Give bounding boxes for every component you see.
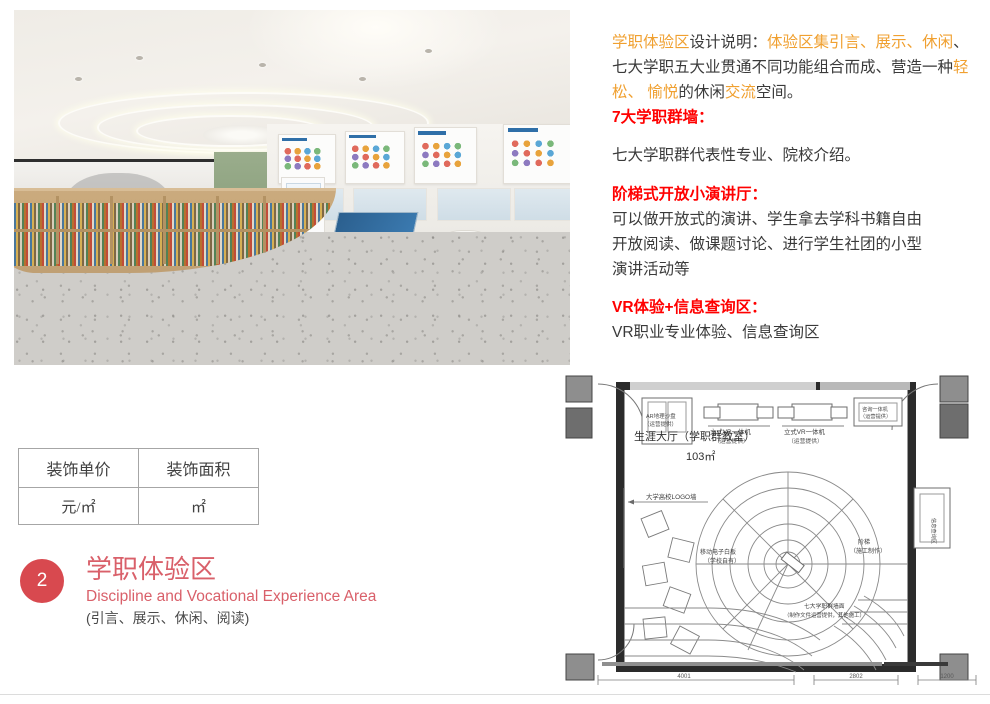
floor-plan: AR地理沙盘 （运营提供） 立式VR一体机 （运营提供） 立式VR一体机 （运营…	[558, 368, 990, 690]
poster-title-bar	[508, 128, 539, 132]
plan-label-seven-wall-sub: （制作文件运营提供，其他施工）	[784, 611, 865, 619]
desc-highlight: 体验区集	[767, 34, 829, 51]
table-cell: ㎡	[139, 488, 259, 525]
plan-label-ar-sandbox: AR地理沙盘	[646, 412, 676, 420]
poster-title-bar	[282, 138, 308, 141]
plan-label-stairs: 阶梯	[858, 538, 870, 546]
plan-label-ar-sandbox-sub: （运营提供）	[644, 420, 677, 428]
floor-plan-drawing: AR地理沙盘 （运营提供） 立式VR一体机 （运营提供） 立式VR一体机 （运营…	[558, 368, 990, 690]
slide-root: 学职体验区设计说明：体验区集引言、展示、休闲、七大学职五大业贯通不同功能组合而成…	[0, 0, 990, 704]
section-text: 学职体验区 Discipline and Vocational Experien…	[86, 555, 376, 628]
desc-body-lecture-hall-line3: 演讲活动等	[612, 257, 980, 282]
section-subtitle-cn: (引言、展示、休闲、阅读)	[86, 609, 376, 628]
poster-graphic	[349, 143, 400, 175]
infographic-poster	[345, 131, 405, 184]
plan-label-vr-2-sub: （运营提供）	[788, 437, 823, 445]
plan-dimension-3: 1200	[940, 674, 954, 680]
plan-item-right-panel: 信息查询区	[914, 488, 950, 548]
design-description: 学职体验区设计说明：体验区集引言、展示、休闲、七大学职五大业贯通不同功能组合而成…	[612, 30, 980, 345]
section-number-badge: 2	[20, 559, 64, 603]
plan-label-right-panel: 信息查询区	[930, 518, 938, 544]
poster-graphic	[419, 140, 473, 174]
desc-text: 的休闲	[678, 84, 725, 101]
desc-body-seven-walls: 七大学职群代表性专业、院校介绍。	[612, 143, 980, 168]
desc-highlight: 休闲	[922, 34, 953, 51]
curved-bookshelf	[14, 188, 336, 273]
spec-table: 装饰单价 装饰面积 元/㎡ ㎡	[18, 448, 259, 525]
plan-label-query-sub: （运营提供）	[860, 412, 891, 420]
poster-title-bar	[349, 135, 376, 139]
desc-text: 营造一种	[891, 59, 953, 76]
desc-text: 设计说明：	[690, 34, 768, 51]
desc-highlight: 引言、展示、	[829, 34, 922, 51]
plan-label-whiteboard-sub: （学校自有）	[704, 557, 740, 565]
plan-bottom-band	[602, 662, 948, 666]
plan-label-stairs-sub: （施工制作）	[850, 547, 886, 555]
table-cell: 元/㎡	[19, 488, 139, 525]
window	[514, 188, 570, 222]
section-title-block: 2 学职体验区 Discipline and Vocational Experi…	[20, 555, 376, 628]
books	[14, 203, 330, 266]
section-title-en: Discipline and Vocational Experience Are…	[86, 587, 376, 608]
plan-label-logo-wall: 大学高校LOGO墙	[646, 492, 697, 501]
table-row: 元/㎡ ㎡	[19, 488, 259, 525]
plan-dimension-1: 4001	[677, 674, 691, 680]
desc-highlight: 交流	[725, 84, 756, 101]
spacer	[612, 130, 980, 143]
desc-body-lecture-hall-line1: 可以做开放式的演讲、学生拿去学科书籍自由	[612, 207, 980, 232]
table-header-cell: 装饰单价	[19, 449, 139, 488]
poster-graphic	[282, 146, 331, 176]
spec-table-wrapper: 装饰单价 装饰面积 元/㎡ ㎡	[18, 448, 259, 525]
plan-label-query: 咨询一体机	[862, 405, 889, 413]
plan-room-name: 生涯大厅（学职群教室）	[634, 429, 755, 443]
plan-label-whiteboard: 移动电子白板	[700, 548, 736, 556]
window	[437, 188, 511, 222]
desc-heading-vr-area: VR体验+信息查询区：	[612, 295, 980, 320]
desc-body-vr-area: VR职业专业体验、信息查询区	[612, 320, 980, 345]
desc-heading-lecture-hall: 阶梯式开放小演讲厅：	[612, 182, 980, 207]
poster-graphic	[508, 137, 567, 173]
plan-label-vr-2: 立式VR一体机	[784, 427, 825, 436]
desc-body-lecture-hall-line2: 开放阅读、做课题讨论、进行学生社团的小型	[612, 232, 980, 257]
plan-dimension-2: 2802	[849, 674, 863, 680]
desc-text: 空间。	[756, 84, 803, 101]
desc-heading-seven-walls: 7大学职群墙：	[612, 105, 980, 130]
desc-highlight: 学职体验区	[612, 34, 690, 51]
plan-label-seven-wall: 七大学职群墙面	[804, 602, 845, 610]
infographic-poster	[414, 127, 477, 184]
spacer	[612, 169, 980, 182]
desc-paragraph-intro: 学职体验区设计说明：体验区集引言、展示、休闲、七大学职五大业贯通不同功能组合而成…	[612, 30, 980, 105]
plan-item-query-kiosk: 咨询一体机 （运营提供）	[854, 398, 902, 426]
footer-divider	[0, 694, 990, 695]
desc-highlight: 愉悦	[643, 84, 678, 101]
table-header-cell: 装饰面积	[139, 449, 259, 488]
interior-render-photo	[14, 10, 570, 365]
plan-room-area: 103㎡	[686, 450, 715, 463]
shelf-shelf-line	[14, 229, 336, 232]
section-title-cn: 学职体验区	[86, 555, 376, 584]
poster-title-bar	[418, 131, 446, 135]
table-header-row: 装饰单价 装饰面积	[19, 449, 259, 488]
infographic-poster	[503, 124, 570, 185]
spacer	[612, 282, 980, 295]
